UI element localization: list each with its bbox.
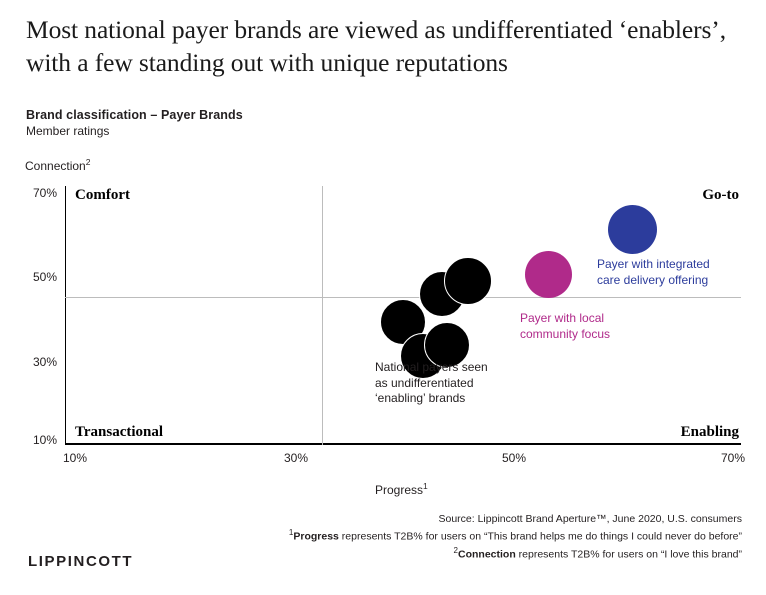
bubble-integrated-care-payer[interactable] — [608, 205, 657, 254]
y-axis-title-text: Connection — [25, 159, 86, 173]
quadrant-label-enabling: Enabling — [681, 424, 739, 441]
lippincott-logo: LIPPINCOTT — [28, 553, 133, 570]
page-title: Most national payer brands are viewed as… — [26, 14, 746, 79]
y-tick-label-50: 50% — [33, 270, 57, 284]
chart-subtitle-heading: Brand classification – Payer Brands — [26, 108, 243, 122]
quadrant-divider-vertical — [322, 186, 323, 445]
x-axis-line — [65, 443, 741, 445]
footnote-connection-text: represents T2B% for users on “I love thi… — [516, 548, 742, 560]
footnote-progress-label: Progress — [293, 531, 339, 543]
y-axis-title: Connection2 — [25, 157, 90, 173]
footnote-connection-label: Connection — [458, 548, 516, 560]
footnote-progress-text: represents T2B% for users on “This brand… — [339, 531, 742, 543]
quadrant-label-transactional: Transactional — [75, 424, 163, 441]
y-axis-line — [65, 186, 66, 445]
chart-subtitle-sub: Member ratings — [26, 124, 109, 138]
local-community-callout: Payer with local community focus — [520, 311, 610, 342]
scatter-plot-area: 70% 50% 30% 10% 10% 30% 50% 70% Comfort … — [65, 186, 741, 445]
quadrant-label-go-to: Go-to — [702, 187, 739, 204]
y-tick-label-10: 10% — [33, 433, 57, 447]
y-tick-label-30: 30% — [33, 355, 57, 369]
quadrant-label-comfort: Comfort — [75, 187, 130, 204]
y-tick-label-70: 70% — [33, 186, 57, 200]
x-axis-title-superscript: 1 — [423, 481, 428, 491]
x-axis-title-text: Progress — [375, 483, 423, 497]
integrated-care-callout: Payer with integrated care delivery offe… — [597, 257, 710, 288]
x-axis-title: Progress1 — [375, 481, 428, 497]
x-tick-label-30: 30% — [284, 451, 308, 465]
bubble-national-payer-5[interactable] — [444, 257, 492, 305]
x-tick-label-50: 50% — [502, 451, 526, 465]
quadrant-divider-horizontal — [65, 297, 741, 298]
undifferentiated-callout: National payers seen as undifferentiated… — [375, 360, 488, 407]
x-tick-label-70: 70% — [721, 451, 745, 465]
x-tick-label-10: 10% — [63, 451, 87, 465]
y-axis-title-superscript: 2 — [86, 157, 91, 167]
source-note: Source: Lippincott Brand Aperture™, June… — [22, 512, 742, 527]
bubble-local-community-payer[interactable] — [525, 251, 572, 298]
footnote-progress: 1Progress represents T2B% for users on “… — [22, 527, 742, 545]
